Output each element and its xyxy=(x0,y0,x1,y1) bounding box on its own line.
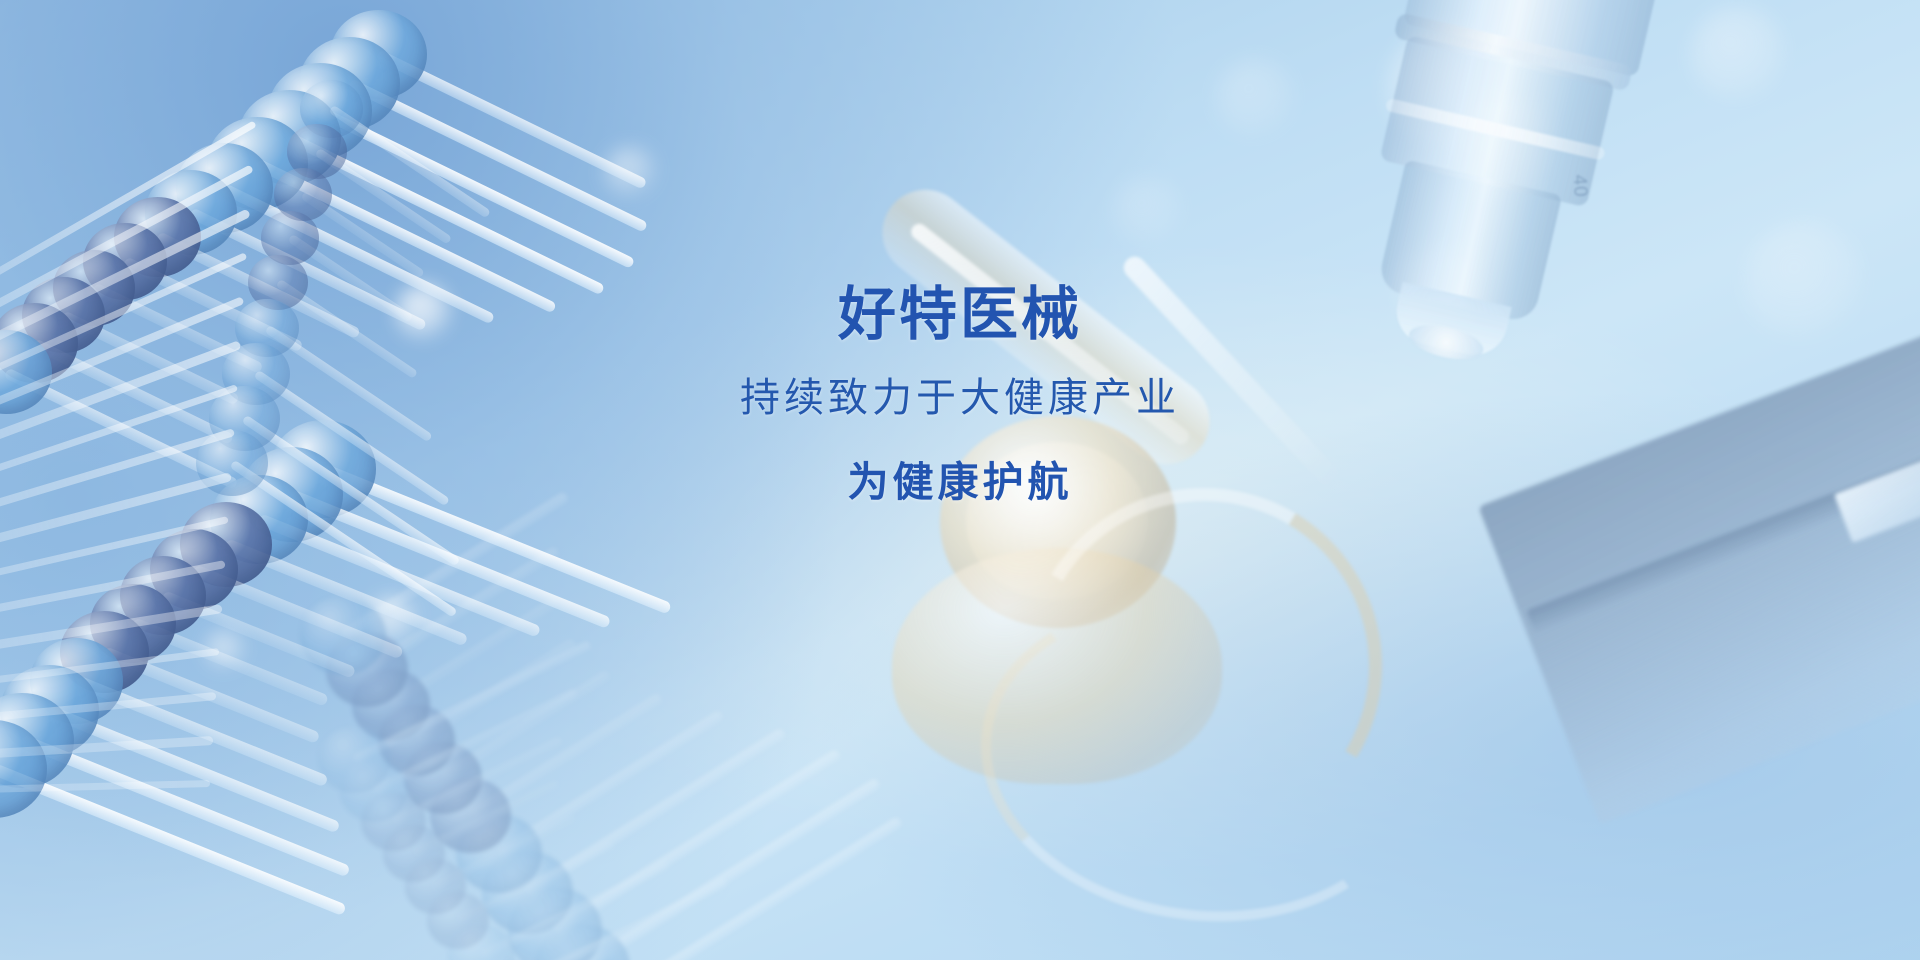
hero-text-block: 好特医械 持续致力于大健康产业 为健康护航 xyxy=(0,286,1920,503)
dna-node xyxy=(299,37,400,130)
dna-rod xyxy=(300,190,424,278)
hero-subtitle: 持续致力于大健康产业 xyxy=(0,378,1920,418)
dna-node xyxy=(330,10,427,99)
dna-rod xyxy=(47,705,341,833)
dna-rod xyxy=(0,604,223,709)
dna-rod xyxy=(287,133,605,296)
dna-rod xyxy=(352,640,592,763)
dna-rod xyxy=(161,590,357,678)
bokeh-icon xyxy=(604,146,656,198)
dna-node xyxy=(300,596,386,675)
dna-rod xyxy=(0,516,229,651)
dna-rod xyxy=(20,735,351,878)
dna-rod xyxy=(192,564,404,659)
bokeh-icon xyxy=(1215,58,1295,138)
dna-rod xyxy=(468,692,664,820)
dna-node xyxy=(482,851,573,934)
dna-rod xyxy=(480,861,670,960)
dna-node xyxy=(30,638,123,724)
dna-node xyxy=(508,887,602,960)
dna-node xyxy=(176,143,273,232)
dna-node xyxy=(404,742,482,814)
dna-rod xyxy=(414,637,578,745)
dna-node xyxy=(456,814,542,893)
dna-rod xyxy=(289,489,612,629)
dna-node xyxy=(287,124,347,179)
dna-rod xyxy=(340,491,570,640)
bokeh-icon xyxy=(1112,176,1182,246)
dna-rod xyxy=(318,106,636,269)
dna-rod xyxy=(0,780,210,805)
dna-rod xyxy=(347,78,648,232)
dna-rod xyxy=(0,736,213,784)
dna-rod xyxy=(496,710,725,859)
dna-rod xyxy=(503,878,729,960)
dna-node xyxy=(318,726,391,793)
dna-rod xyxy=(388,596,560,709)
dna-node xyxy=(534,924,630,960)
dna-node xyxy=(90,584,176,663)
dna-rod xyxy=(392,736,564,826)
dna-rod xyxy=(0,692,216,759)
dna-node xyxy=(340,759,408,822)
dna-rod xyxy=(372,688,578,795)
dna-node xyxy=(352,669,430,741)
dna-rod xyxy=(579,777,882,960)
dna-rod xyxy=(440,669,612,782)
dna-rod xyxy=(224,539,468,647)
dna-node xyxy=(274,168,332,221)
bokeh-icon xyxy=(205,630,245,670)
dna-rod xyxy=(329,105,491,219)
dna-node xyxy=(238,90,342,185)
dna-node xyxy=(0,693,74,788)
dna-node xyxy=(60,611,149,693)
dna-rod xyxy=(0,560,226,680)
dna-node xyxy=(0,720,47,818)
hero-banner: 40 好特医械 持续致力于大健康产业 为健康护航 xyxy=(0,0,1920,960)
dna-node xyxy=(145,170,237,255)
dna-rod xyxy=(0,764,347,917)
dna-node xyxy=(120,556,206,635)
dna-node xyxy=(0,665,99,756)
dna-node xyxy=(383,825,444,881)
dna-node xyxy=(361,792,425,851)
dna-node xyxy=(300,80,363,138)
dna-rod xyxy=(376,50,648,190)
dna-node xyxy=(268,63,372,158)
dna-rod xyxy=(74,676,328,788)
dna-node xyxy=(180,502,272,587)
dna-rod xyxy=(456,841,616,925)
page-title: 好特医械 xyxy=(0,286,1920,344)
bokeh-icon xyxy=(370,596,416,642)
dna-rod xyxy=(412,779,561,858)
dna-node xyxy=(405,859,466,915)
dna-node xyxy=(114,197,201,277)
dna-rod xyxy=(364,546,560,674)
dna-rod xyxy=(0,648,219,733)
dna-node xyxy=(150,529,238,610)
bokeh-icon xyxy=(1690,6,1786,102)
dna-rod xyxy=(257,514,541,638)
dna-node xyxy=(448,925,515,960)
dna-rod xyxy=(314,147,452,244)
hero-tagline: 为健康护航 xyxy=(0,462,1920,503)
dna-node xyxy=(326,632,408,707)
dna-rod xyxy=(102,646,321,744)
dna-node xyxy=(261,211,319,264)
microscope-magnification-label: 40 xyxy=(1568,174,1591,198)
dna-node xyxy=(430,778,511,853)
dna-node xyxy=(378,705,455,776)
dna-node xyxy=(207,117,308,210)
dna-rod xyxy=(131,618,329,707)
dna-rod xyxy=(433,814,577,890)
dna-rod xyxy=(552,748,842,935)
dna-node xyxy=(427,892,490,950)
dna-rod xyxy=(524,727,787,897)
